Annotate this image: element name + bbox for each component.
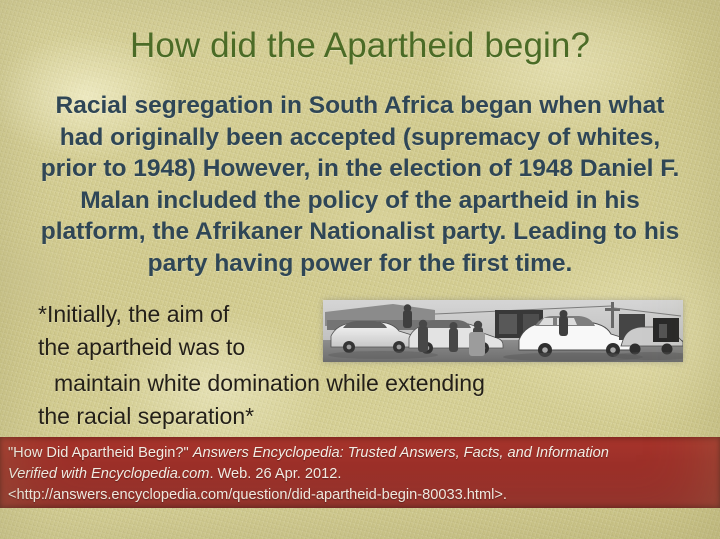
presentation-slide: How did the Apartheid begin? Racial segr… [0,0,720,539]
page-title: How did the Apartheid begin? [0,28,720,65]
bullet-line-1: *Initially, the aim of [38,298,323,331]
citation-url: <http://answers.encyclopedia.com/questio… [8,485,710,506]
citation-source-italic: Answers Encyclopedia: Trusted Answers, F… [193,445,609,461]
body-paragraph: Racial segregation in South Africa began… [36,90,684,279]
citation-line-2: Verified with Encyclopedia.com. Web. 26 … [8,464,710,485]
bullet-line-2: the apartheid was to [38,331,323,364]
citation-bar: "How Did Apartheid Begin?" Answers Encyc… [0,437,720,508]
citation-access-date: . Web. 26 Apr. 2012. [209,466,341,482]
historical-photo [323,300,683,362]
historical-photo-graphic [323,300,683,362]
citation-line-1: "How Did Apartheid Begin?" Answers Encyc… [8,443,710,464]
bullet-line-4: the racial separation* [38,400,678,433]
bullet-line-3: maintain white domination while extendin… [38,367,678,400]
citation-title: "How Did Apartheid Begin?" [8,445,193,461]
citation-verified-italic: Verified with Encyclopedia.com [8,466,209,482]
